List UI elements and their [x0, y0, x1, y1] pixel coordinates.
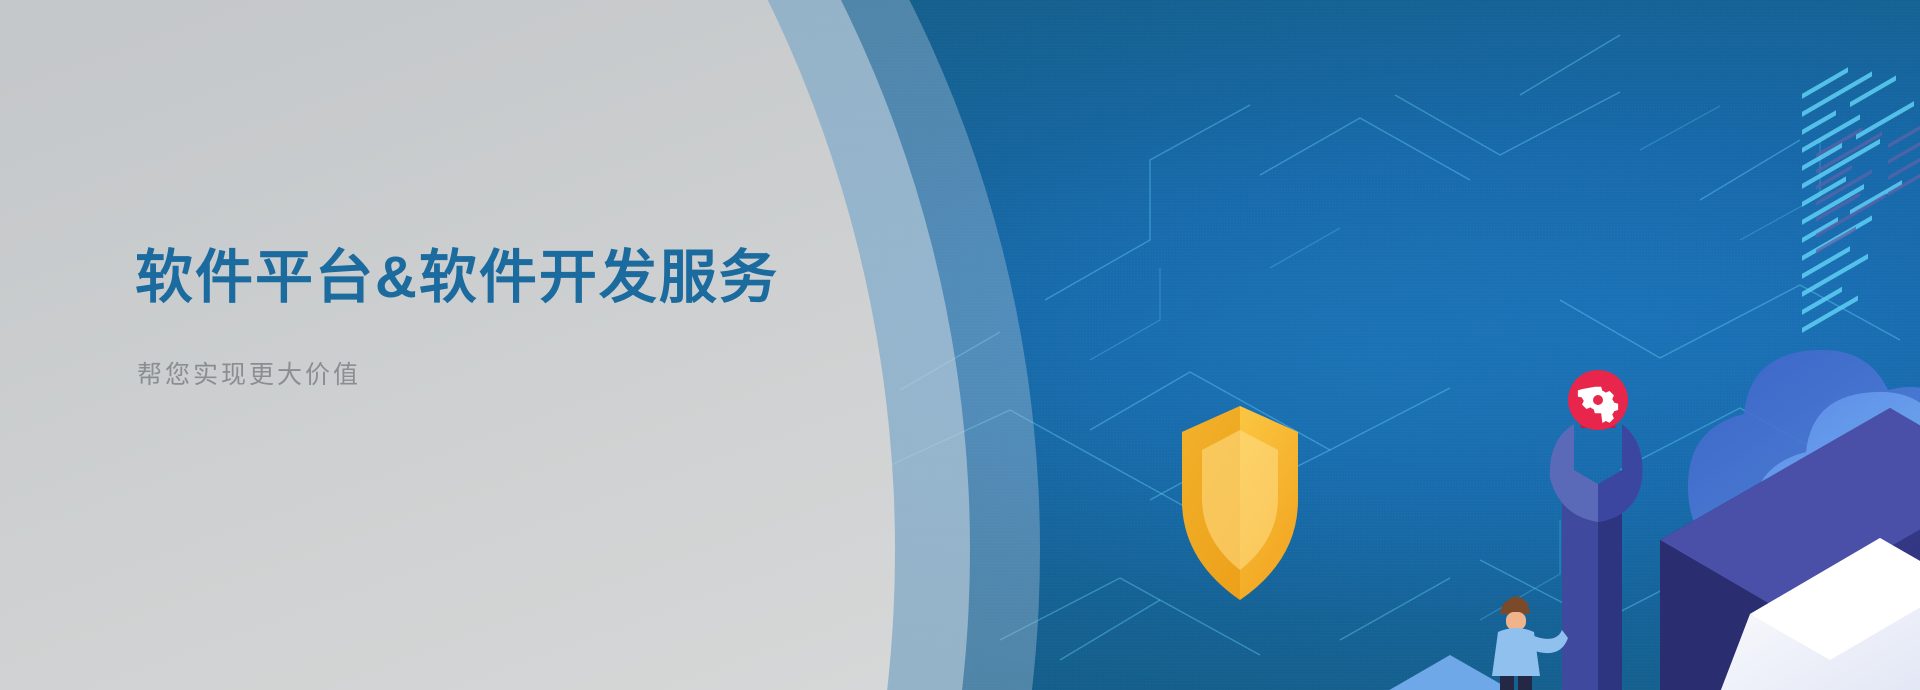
engineer-figure — [1492, 596, 1568, 690]
code-screen — [1802, 67, 1914, 333]
gear-badge-icon — [1568, 370, 1628, 430]
headline-block: 软件平台&软件开发服务 帮您实现更大价值 — [135, 246, 779, 391]
page-title: 软件平台&软件开发服务 — [135, 246, 779, 311]
hero-illustration: NEWS — [1050, 0, 1920, 690]
hero-banner: 软件平台&软件开发服务 帮您实现更大价值 — [0, 0, 1920, 690]
shield-icon — [1182, 406, 1298, 600]
wrench-icon — [1550, 424, 1643, 690]
page-subtitle: 帮您实现更大价值 — [137, 355, 779, 391]
